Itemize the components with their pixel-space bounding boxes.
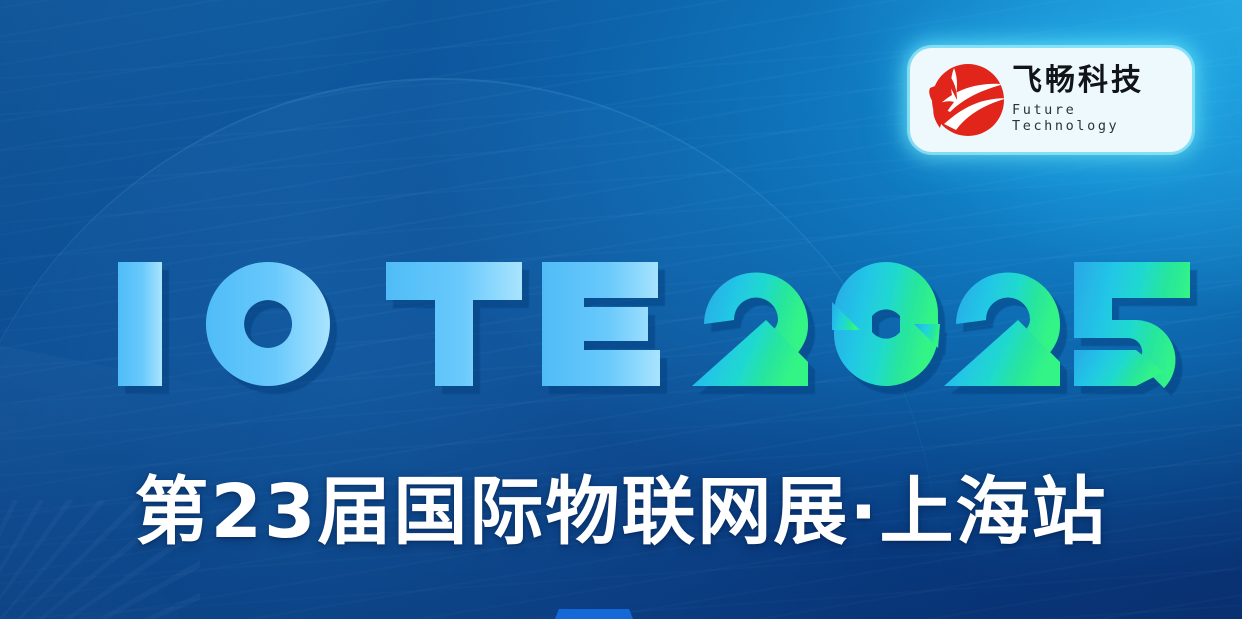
company-name-cn: 飞畅科技 xyxy=(1012,66,1176,97)
company-name-en: Future Technology xyxy=(1012,102,1176,134)
iote-2025-wordmark xyxy=(118,258,1082,390)
event-subtitle: 第23届国际物联网展·上海站 xyxy=(0,452,1242,559)
feichang-logo-icon xyxy=(924,60,1006,140)
wordmark-year-digits xyxy=(692,262,1192,408)
wordmark-iote-letters xyxy=(118,262,660,386)
bottom-center-marker xyxy=(555,609,633,619)
iote-2025-event-banner: 飞畅科技 Future Technology xyxy=(0,0,1242,619)
company-logo-badge[interactable]: 飞畅科技 Future Technology xyxy=(910,48,1192,152)
